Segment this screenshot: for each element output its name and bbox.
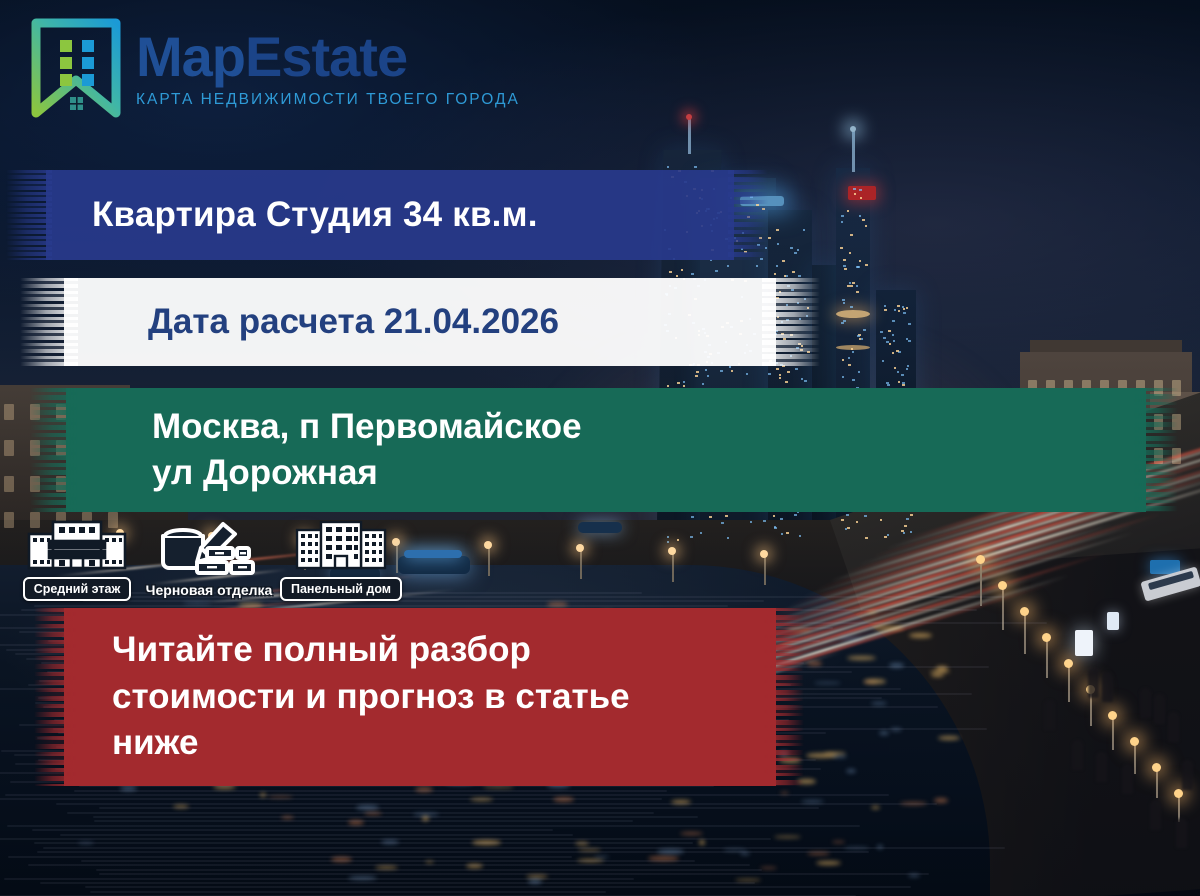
cta-text: Читайте полный разбор стоимости и прогно… bbox=[64, 627, 776, 767]
poster-card: MapEstate КАРТА НЕДВИЖИМОСТИ ТВОЕГО ГОРО… bbox=[0, 0, 1200, 896]
badge-panel-house[interactable]: Панельный дом bbox=[282, 518, 400, 601]
paint-bucket-trowel-icon bbox=[153, 520, 265, 576]
mid-floor-buildings-icon bbox=[25, 518, 129, 574]
badge-mid-floor[interactable]: Средний этаж bbox=[18, 518, 136, 601]
brand-wordmark: MapEstate КАРТА НЕДВИЖИМОСТИ ТВОЕГО ГОРО… bbox=[136, 29, 520, 108]
badge-label: Панельный дом bbox=[280, 577, 402, 601]
address-band: Москва, п Первомайское ул Дорожная bbox=[66, 388, 1146, 512]
badge-label: Черновая отделка bbox=[137, 579, 282, 601]
property-type-band: Квартира Студия 34 кв.м. bbox=[46, 170, 734, 260]
address-text: Москва, п Первомайское ул Дорожная bbox=[66, 404, 1146, 496]
brand-name-part1: Map bbox=[136, 25, 245, 88]
brand-tagline: КАРТА НЕДВИЖИМОСТИ ТВОЕГО ГОРОДА bbox=[136, 92, 520, 108]
panel-house-icon bbox=[291, 518, 391, 574]
badge-finishing[interactable]: Черновая отделка bbox=[150, 520, 268, 601]
property-type-text: Квартира Студия 34 кв.м. bbox=[46, 195, 734, 235]
cta-band: Читайте полный разбор стоимости и прогно… bbox=[64, 608, 776, 786]
calc-date-text: Дата расчета 21.04.2026 bbox=[64, 302, 776, 342]
brand-logo[interactable]: MapEstate КАРТА НЕДВИЖИМОСТИ ТВОЕГО ГОРО… bbox=[30, 18, 520, 118]
cta-line-2: стоимости и прогноз в статье bbox=[112, 674, 776, 721]
brand-name-part2: Estate bbox=[245, 25, 407, 88]
cta-line-3: ниже bbox=[112, 720, 776, 767]
address-line-1: Москва, п Первомайское bbox=[152, 404, 1146, 450]
calc-date-band: Дата расчета 21.04.2026 bbox=[64, 278, 776, 366]
bookmark-building-icon bbox=[30, 18, 122, 118]
brand-name: MapEstate bbox=[136, 29, 520, 85]
feature-badges: Средний этаж bbox=[18, 518, 400, 601]
address-line-2: ул Дорожная bbox=[152, 450, 1146, 496]
cta-line-1: Читайте полный разбор bbox=[112, 627, 776, 674]
badge-label: Средний этаж bbox=[23, 577, 132, 601]
